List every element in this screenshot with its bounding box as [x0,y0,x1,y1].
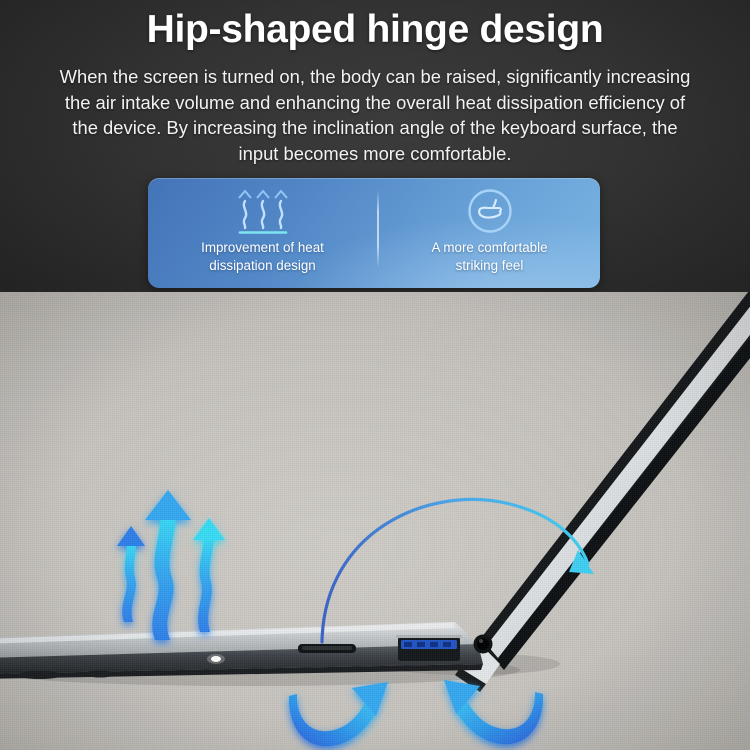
laptop-base [0,622,493,679]
heat-rising-waves-icon [232,187,294,235]
laptop-illustration [0,292,750,750]
thumbs-up-circle-icon [466,187,514,235]
feature-panel-label: A more comfortable striking feel [431,239,547,274]
feature-card: Improvement of heat dissipation design A… [148,178,600,288]
microsd-card-slot [298,644,356,653]
lift-arrow-right [444,680,543,744]
airflow-arrow-center [145,490,191,640]
rubber-foot [85,671,115,678]
product-feature-image: Hip-shaped hinge design When the screen … [0,0,750,750]
header-description: When the screen is turned on, the body c… [55,64,695,166]
audio-jack-port [474,635,493,654]
usb-3-port [396,635,462,661]
lift-arrow-left [289,682,388,746]
feature-panel-heat-dissipation: Improvement of heat dissipation design [148,178,377,288]
power-led-indicator [207,654,225,664]
page-title: Hip-shaped hinge design [0,8,750,52]
airflow-arrow-left [117,526,145,622]
feature-panel-striking-feel: A more comfortable striking feel [379,178,600,288]
laptop-lid [455,292,750,692]
airflow-arrow-right [193,518,225,632]
feature-panel-label: Improvement of heat dissipation design [201,239,324,274]
rubber-foot [18,671,62,679]
product-photo [0,292,750,750]
